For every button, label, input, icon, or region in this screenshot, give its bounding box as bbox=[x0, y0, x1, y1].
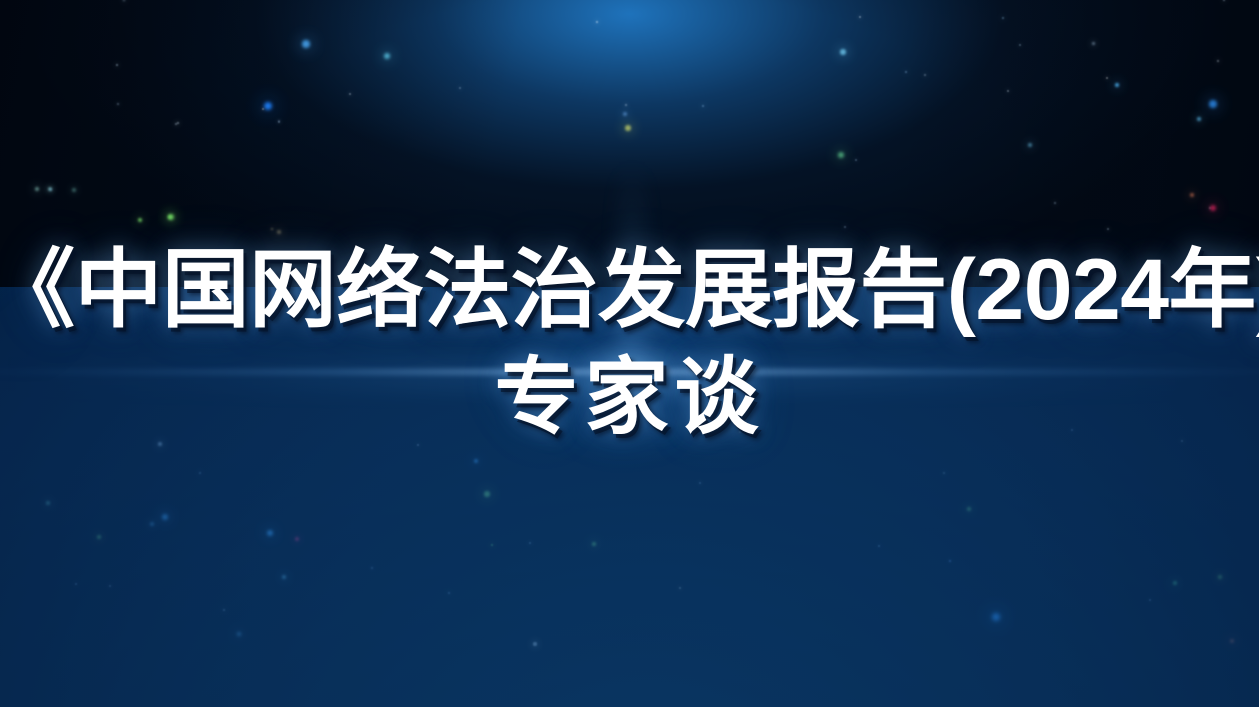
title-block: 《中国网络法治发展报告(2024年)》 专家谈 bbox=[0, 247, 1259, 439]
bokeh-particle bbox=[1019, 44, 1021, 46]
bokeh-particle bbox=[859, 16, 861, 18]
bokeh-particle bbox=[1210, 205, 1216, 211]
bokeh-particle bbox=[49, 188, 52, 191]
bokeh-particle bbox=[840, 49, 845, 54]
bokeh-particle bbox=[1106, 77, 1108, 79]
bokeh-particle bbox=[271, 228, 274, 231]
bokeh-particle bbox=[72, 188, 76, 192]
bokeh-particle bbox=[138, 218, 142, 222]
bokeh-particle bbox=[1197, 117, 1201, 121]
bokeh-particle bbox=[168, 214, 173, 219]
bokeh-particle bbox=[1209, 100, 1216, 107]
bokeh-particle bbox=[1002, 17, 1005, 20]
bokeh-particle bbox=[1092, 42, 1095, 45]
bokeh-particle bbox=[855, 159, 857, 161]
bokeh-particle bbox=[459, 87, 461, 89]
bokeh-particle bbox=[1007, 90, 1009, 92]
bokeh-particle bbox=[1107, 228, 1109, 230]
bokeh-particle bbox=[264, 102, 273, 111]
bokeh-particle bbox=[349, 93, 351, 95]
bokeh-particle bbox=[1223, 0, 1225, 1]
bokeh-particle bbox=[177, 122, 180, 125]
bokeh-particle bbox=[838, 152, 844, 158]
bokeh-particle bbox=[302, 40, 309, 47]
bokeh-particle bbox=[905, 71, 908, 74]
bokeh-particle bbox=[596, 21, 598, 23]
bokeh-particle bbox=[117, 103, 119, 105]
bokeh-particle bbox=[844, 226, 846, 228]
page-title-line-1: 《中国网络法治发展报告(2024年)》 bbox=[0, 247, 1259, 333]
bokeh-particle bbox=[277, 230, 281, 234]
bokeh-particle bbox=[1190, 193, 1194, 197]
bokeh-particle bbox=[1028, 143, 1032, 147]
bokeh-particle bbox=[924, 74, 926, 76]
bokeh-particle bbox=[623, 112, 627, 116]
title-card-stage: 《中国网络法治发展报告(2024年)》 专家谈 bbox=[0, 0, 1259, 707]
page-title-line-2: 专家谈 bbox=[0, 355, 1259, 439]
bokeh-particle bbox=[262, 108, 264, 110]
bokeh-particle bbox=[1054, 202, 1056, 204]
bokeh-particle bbox=[123, 0, 126, 1]
bokeh-particle bbox=[625, 125, 630, 130]
bokeh-particle bbox=[702, 105, 705, 108]
bokeh-particle bbox=[1115, 83, 1120, 88]
bokeh-particle bbox=[625, 104, 627, 106]
bokeh-particle bbox=[384, 53, 390, 59]
bokeh-particle bbox=[1217, 60, 1219, 62]
bokeh-particle bbox=[116, 64, 118, 66]
bokeh-particle bbox=[35, 187, 39, 191]
